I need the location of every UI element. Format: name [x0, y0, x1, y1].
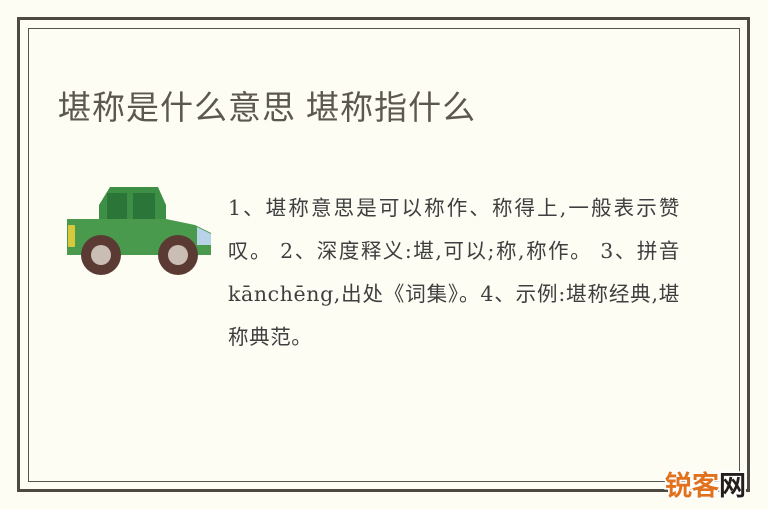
page-title: 堪称是什么意思 堪称指什么 [58, 88, 476, 128]
site-watermark: 锐客网 [665, 472, 746, 502]
truck-illustration [63, 173, 223, 283]
content-area: 堪称是什么意思 堪称指什么 1、堪称意思是可以称作、称得上,一般表 [28, 28, 740, 482]
watermark-secondary-text: 网 [719, 472, 746, 502]
green-pickup-truck-icon [63, 173, 223, 283]
watermark-primary-text: 锐客 [665, 472, 719, 502]
article-body-text: 1、堪称意思是可以称作、称得上,一般表示赞叹。 2、深度释义:堪,可以;称,称作… [228, 187, 680, 359]
